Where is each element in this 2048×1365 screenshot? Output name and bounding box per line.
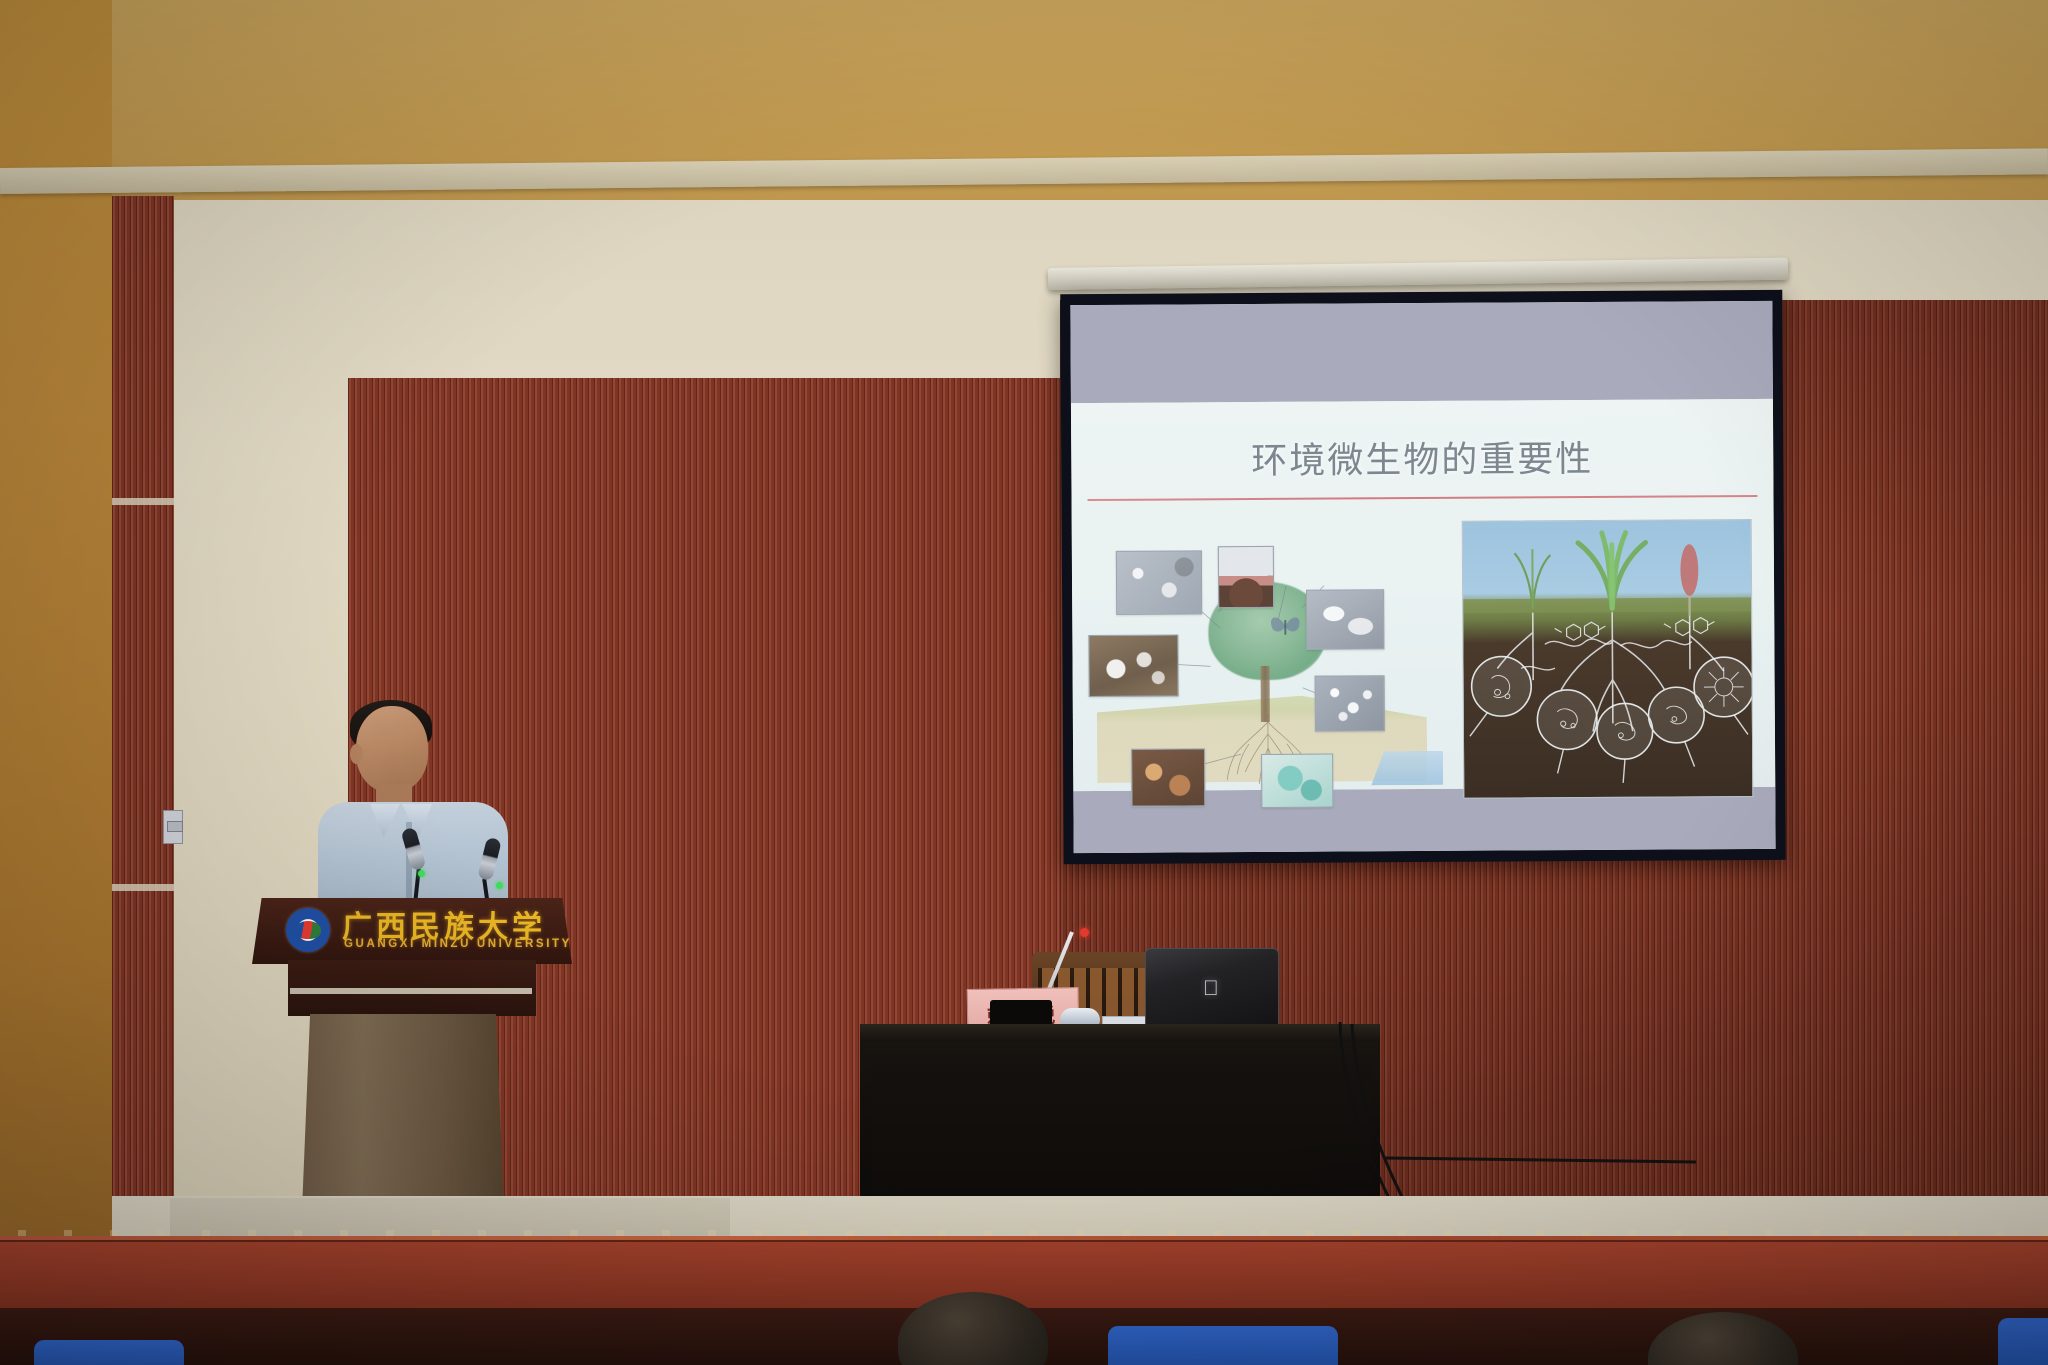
letterbox-band-top bbox=[1070, 301, 1773, 403]
inset-bacteria-sem bbox=[1306, 589, 1384, 649]
inset-algae bbox=[1261, 754, 1333, 808]
inset-root-nodule bbox=[1218, 546, 1274, 608]
wall-trim-line bbox=[112, 498, 174, 505]
wood-panel-left bbox=[112, 196, 174, 1206]
laptop[interactable]:  bbox=[1145, 948, 1279, 1034]
podium-body bbox=[302, 1014, 504, 1210]
inset-fruiting-bodies: Mycorrhizal mutualists bbox=[1088, 634, 1178, 697]
wall-trim-line bbox=[112, 884, 174, 891]
rhizosphere-illustration bbox=[1463, 520, 1753, 798]
audience-seat bbox=[34, 1340, 184, 1365]
projector-screen: 环境微生物的重要性 bbox=[1060, 290, 1785, 864]
apple-icon:  bbox=[1203, 978, 1223, 1000]
slide-body: Saprotrophic microorganisms Mycorrhizal … bbox=[1072, 505, 1776, 791]
slide: 环境微生物的重要性 bbox=[1071, 399, 1775, 791]
laser-pointer-tip-icon bbox=[1080, 928, 1089, 937]
audience-seat bbox=[1998, 1318, 2048, 1365]
lecture-hall-photo: 环境微生物的重要性 bbox=[0, 0, 2048, 1365]
inset-soil-hyphae: Saprotrophic microorganisms bbox=[1116, 550, 1202, 615]
wall-switch-plate[interactable] bbox=[163, 810, 183, 844]
inset-water-microbes: Water transport fungi bbox=[1315, 675, 1385, 731]
tree-ecosystem-microbe-diagram: Saprotrophic microorganisms Mycorrhizal … bbox=[1090, 515, 1452, 817]
podium-institution-en: GUANGXI MINZU UNIVERSITY bbox=[344, 938, 574, 950]
left-side-wall bbox=[0, 0, 112, 1365]
university-crest-icon bbox=[286, 908, 330, 952]
rhizosphere-interaction-photo bbox=[1462, 519, 1754, 799]
presenter-head bbox=[356, 706, 428, 792]
projection-surface: 环境微生物的重要性 bbox=[1070, 301, 1775, 853]
audience-seat bbox=[1108, 1326, 1338, 1365]
inset-rhizosphere-soil: Mycorrhizal symbionts bbox=[1131, 748, 1205, 806]
podium-light-strip bbox=[290, 988, 532, 994]
slide-title-divider bbox=[1088, 495, 1758, 501]
presenter-ear bbox=[350, 744, 363, 764]
slide-title: 环境微生物的重要性 bbox=[1071, 429, 1773, 485]
